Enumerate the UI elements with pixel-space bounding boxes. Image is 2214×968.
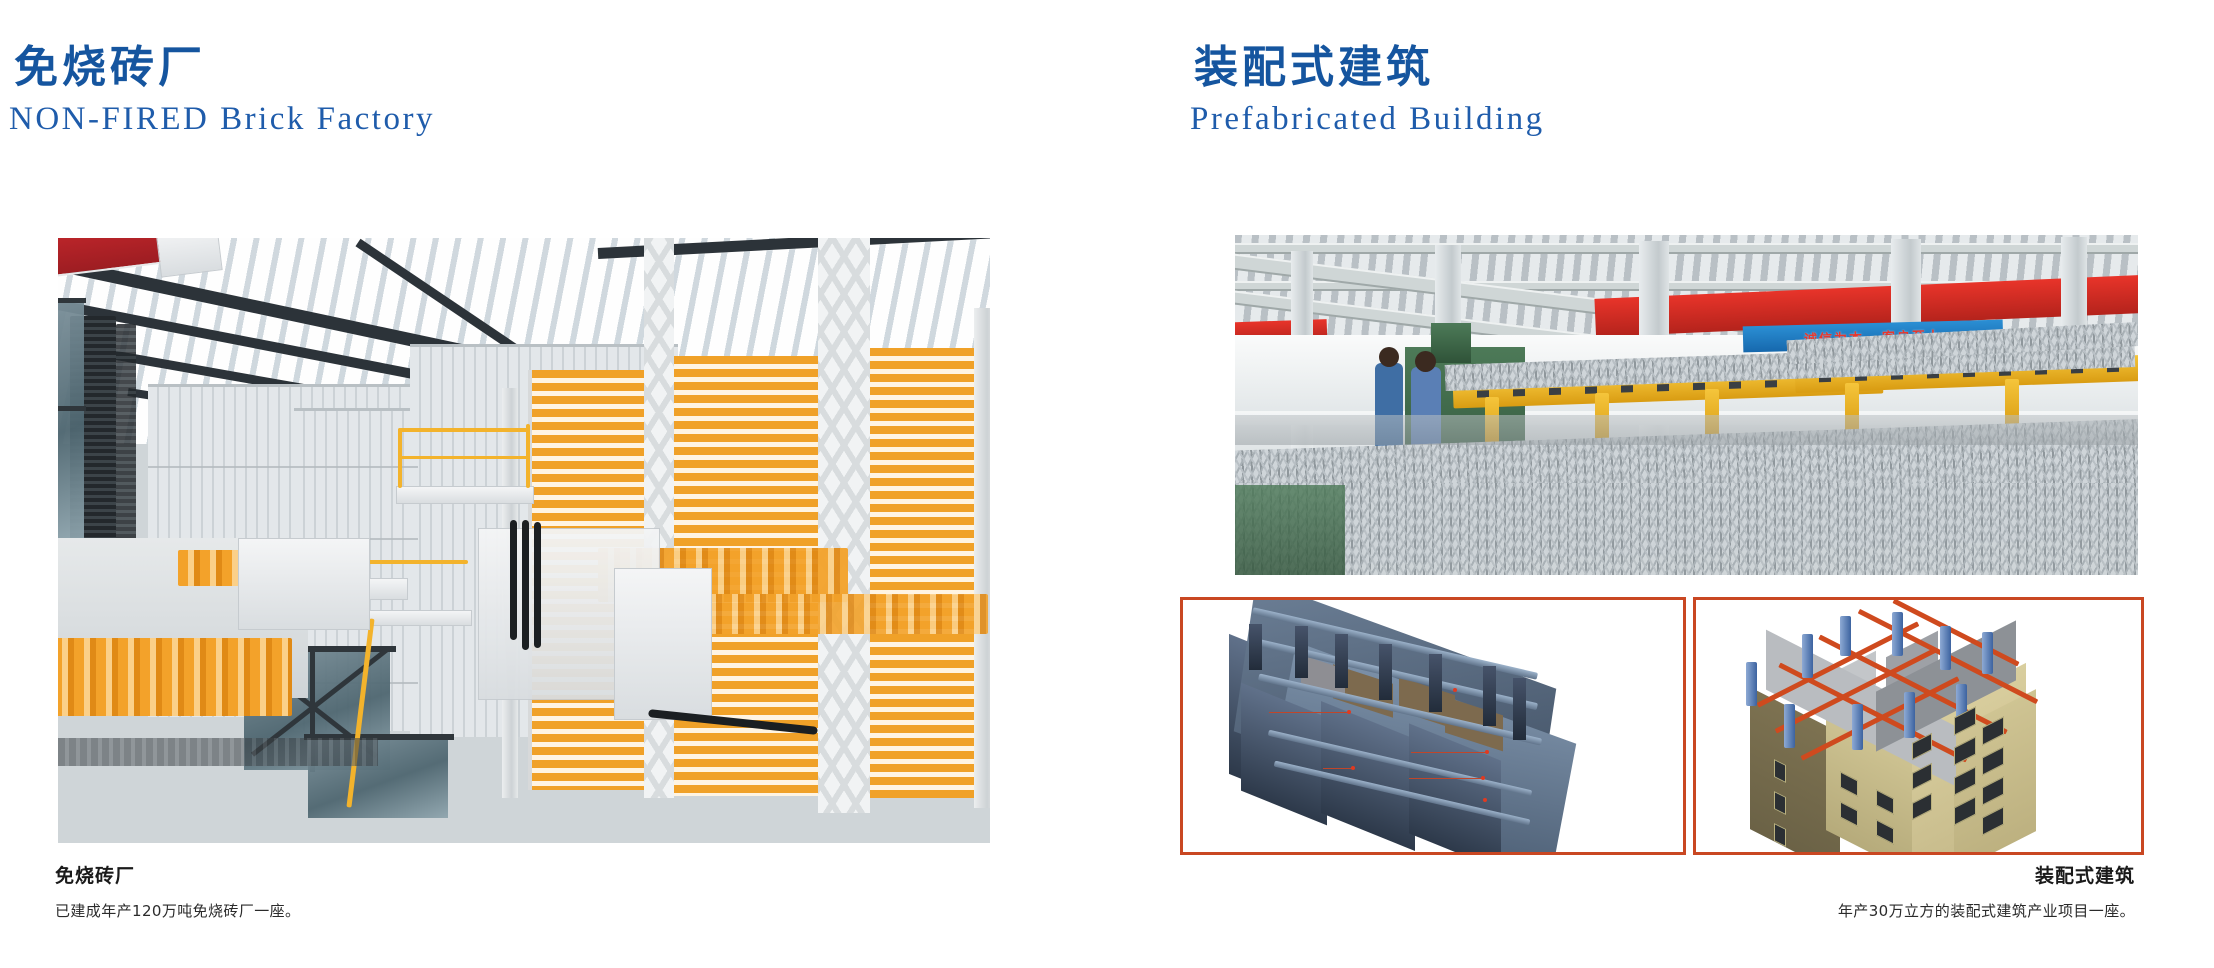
- structural-column-blue: [1840, 616, 1851, 656]
- roof-purlin: [1235, 243, 2138, 254]
- right-caption-text: 年产30万立方的装配式建筑产业项目一座。: [1838, 900, 2135, 921]
- structural-column-blue: [1784, 704, 1795, 748]
- module-post: [1429, 654, 1442, 712]
- module-assembly-render: [1180, 597, 1686, 855]
- module-post: [1249, 624, 1262, 670]
- annotation-leader-line: [1409, 778, 1483, 779]
- structural-column-blue: [1940, 626, 1951, 670]
- left-title-cn: 免烧砖厂: [14, 46, 206, 90]
- structural-column-blue: [1746, 662, 1757, 706]
- non-fired-brick-factory-photo: [58, 238, 990, 843]
- structural-column-blue: [1904, 692, 1915, 738]
- annotation-leader-line: [1323, 768, 1353, 769]
- workshop-floor: [1235, 415, 2138, 445]
- structural-column-blue: [1802, 634, 1813, 678]
- orange-handling-machine: [678, 594, 988, 634]
- annotation-point: [1351, 766, 1355, 770]
- building-structure-render: [1693, 597, 2144, 855]
- platform-railing: [398, 428, 530, 432]
- prefabricated-building-workshop-photo: 诚信为本 客户至上: [1235, 235, 2138, 575]
- worker-head: [1415, 351, 1436, 372]
- annotation-point: [1483, 798, 1487, 802]
- left-caption-title: 免烧砖厂: [55, 861, 135, 888]
- safety-placard: [364, 578, 408, 600]
- right-title-cn: 装配式建筑: [1194, 46, 1434, 90]
- structural-column-blue: [1852, 704, 1863, 750]
- left-title-en: NON-FIRED Brick Factory: [9, 103, 435, 136]
- chain-conveyor: [58, 738, 378, 766]
- render-canvas: [1183, 600, 1683, 852]
- structural-column-blue: [1892, 612, 1903, 656]
- left-panel: 免烧砖厂 NON-FIRED Brick Factory: [0, 0, 1180, 968]
- machine-base: [1235, 485, 1345, 575]
- module-post: [1295, 626, 1308, 678]
- worker-head: [1379, 347, 1399, 367]
- brochure-page: 免烧砖厂 NON-FIRED Brick Factory: [0, 0, 2214, 968]
- module-post: [1513, 678, 1526, 740]
- annotation-point: [1485, 750, 1489, 754]
- window-mullion: [58, 406, 86, 411]
- right-title-en: Prefabricated Building: [1190, 103, 1545, 136]
- module-post: [1379, 644, 1392, 700]
- hydraulic-hose: [534, 522, 541, 648]
- annotation-leader-line: [1411, 752, 1487, 753]
- module-post: [1335, 634, 1348, 688]
- module-post: [1483, 666, 1496, 726]
- block-machine-frame: [238, 538, 370, 630]
- structural-column-blue: [1982, 632, 1993, 674]
- render-canvas: [1696, 600, 2141, 852]
- rebar-truss-stack: [1235, 483, 2138, 575]
- annotation-leader-line: [1269, 712, 1349, 713]
- annotation-point: [1481, 776, 1485, 780]
- window-mullion: [58, 298, 86, 303]
- access-platform: [396, 486, 534, 504]
- steel-column: [974, 308, 990, 808]
- orange-handling-machine: [58, 638, 292, 716]
- right-caption-title: 装配式建筑: [2035, 861, 2135, 888]
- platform-railing: [398, 456, 530, 459]
- factory-window: [58, 298, 84, 538]
- hydraulic-hose: [510, 520, 517, 640]
- block-machine-frame: [614, 568, 712, 720]
- hydraulic-hose: [522, 520, 529, 650]
- green-welding-machine: [1431, 323, 1471, 363]
- wall-seam: [148, 466, 418, 468]
- annotation-point: [1347, 710, 1351, 714]
- lattice-column: [818, 238, 870, 813]
- louver-tower: [116, 324, 136, 544]
- left-caption-text: 已建成年产120万吨免烧砖厂一座。: [55, 900, 300, 921]
- annotation-point: [1453, 688, 1457, 692]
